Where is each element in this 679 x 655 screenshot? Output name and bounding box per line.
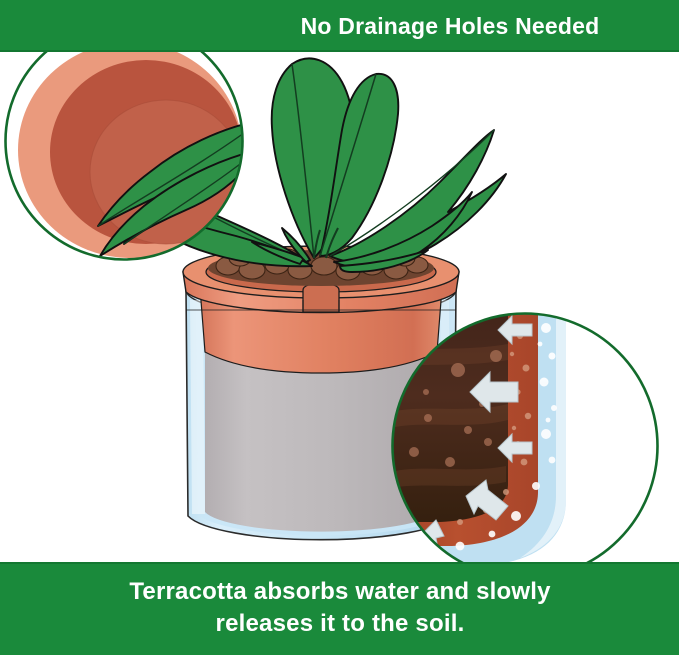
- infographic-root: No Drainage Holes Needed Terracotta abso…: [0, 0, 679, 655]
- bottom-banner: [0, 562, 679, 655]
- bottom-banner-edge: [0, 562, 679, 564]
- top-banner: [0, 0, 679, 52]
- top-banner-edge: [0, 50, 679, 52]
- pot-seam-notch: [303, 283, 339, 312]
- illustration-canvas: [0, 0, 679, 655]
- glass-left-highlight: [190, 300, 205, 514]
